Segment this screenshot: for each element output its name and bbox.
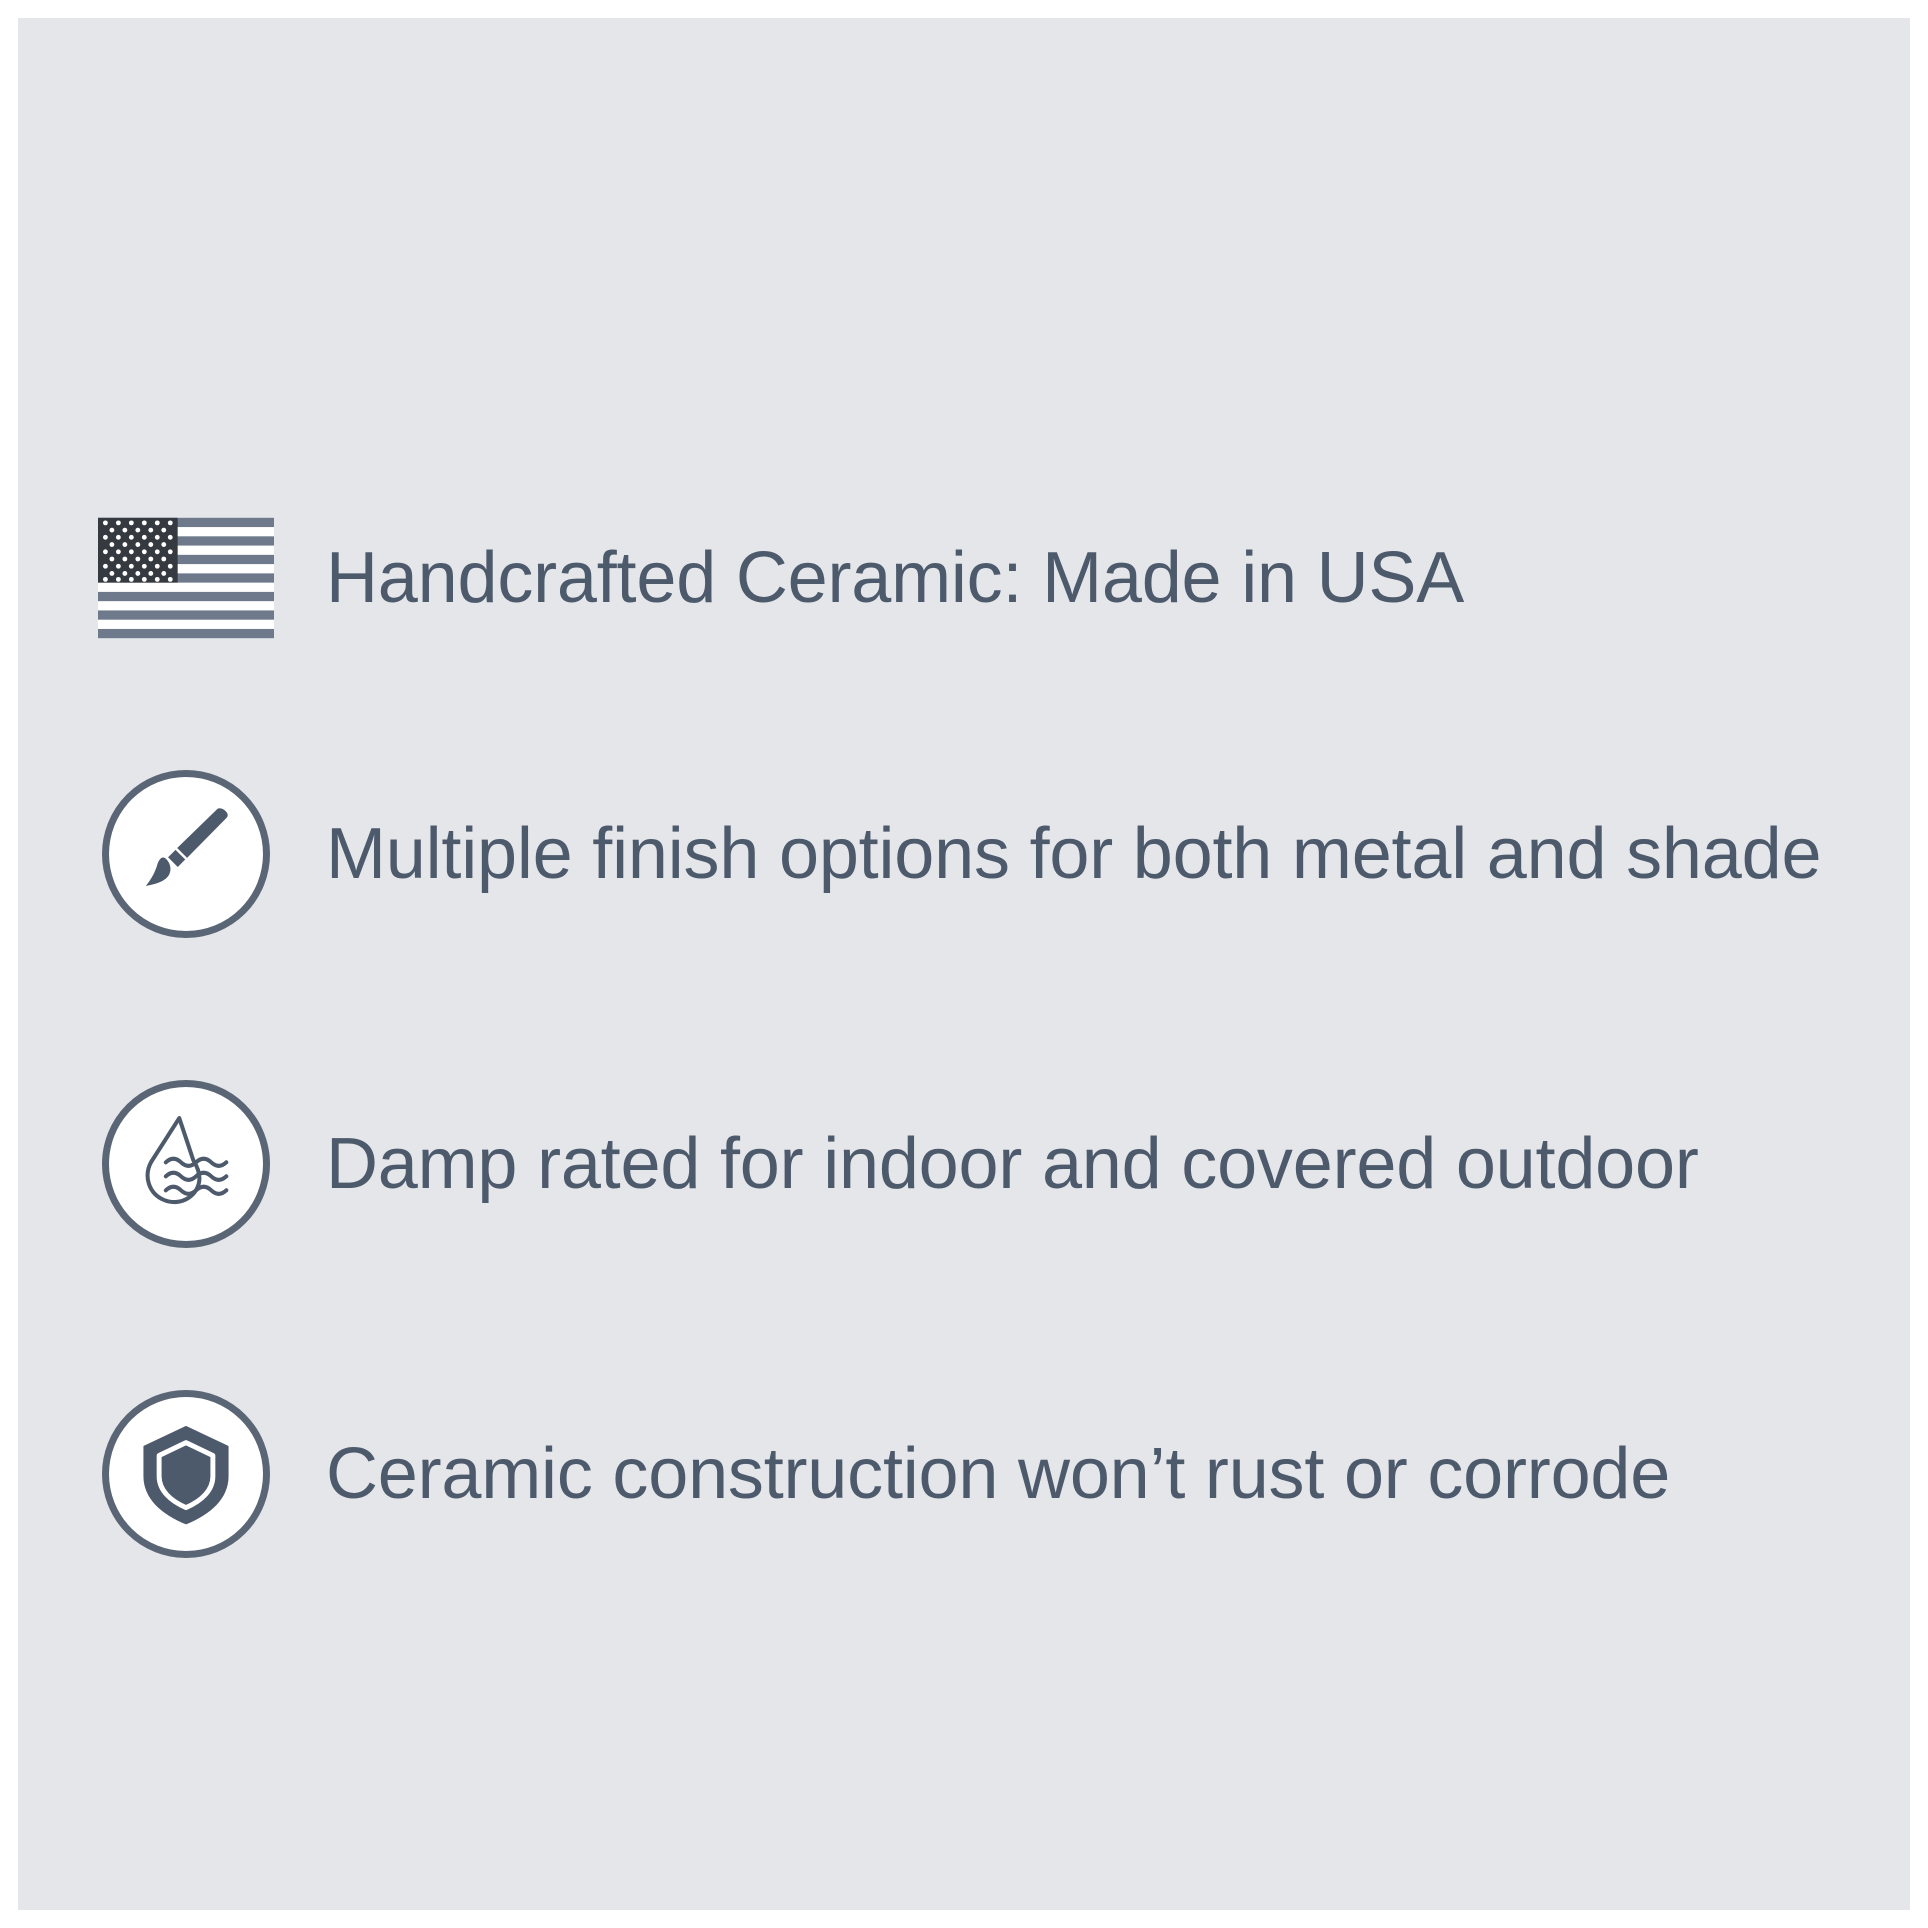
list-item: Ceramic construction won’t rust or corro…: [88, 1386, 1670, 1562]
feature-icon-slot: [88, 766, 284, 942]
water-drop-waves-icon: [102, 1080, 270, 1248]
list-item: Multiple finish options for both metal a…: [88, 766, 1821, 942]
feature-icon-slot: [88, 490, 284, 666]
feature-label: Ceramic construction won’t rust or corro…: [326, 1438, 1670, 1510]
list-item: Damp rated for indoor and covered outdoo…: [88, 1076, 1699, 1252]
feature-label: Handcrafted Ceramic: Made in USA: [326, 542, 1464, 614]
list-item: Handcrafted Ceramic: Made in USA: [88, 490, 1464, 666]
feature-label: Damp rated for indoor and covered outdoo…: [326, 1128, 1699, 1200]
paintbrush-icon: [102, 770, 270, 938]
feature-icon-slot: [88, 1386, 284, 1562]
us-flag-icon: [98, 490, 274, 666]
feature-label: Multiple finish options for both metal a…: [326, 818, 1821, 890]
feature-icon-slot: [88, 1076, 284, 1252]
product-feature-panel: Handcrafted Ceramic: Made in USA: [18, 18, 1910, 1910]
shield-icon: [102, 1390, 270, 1558]
